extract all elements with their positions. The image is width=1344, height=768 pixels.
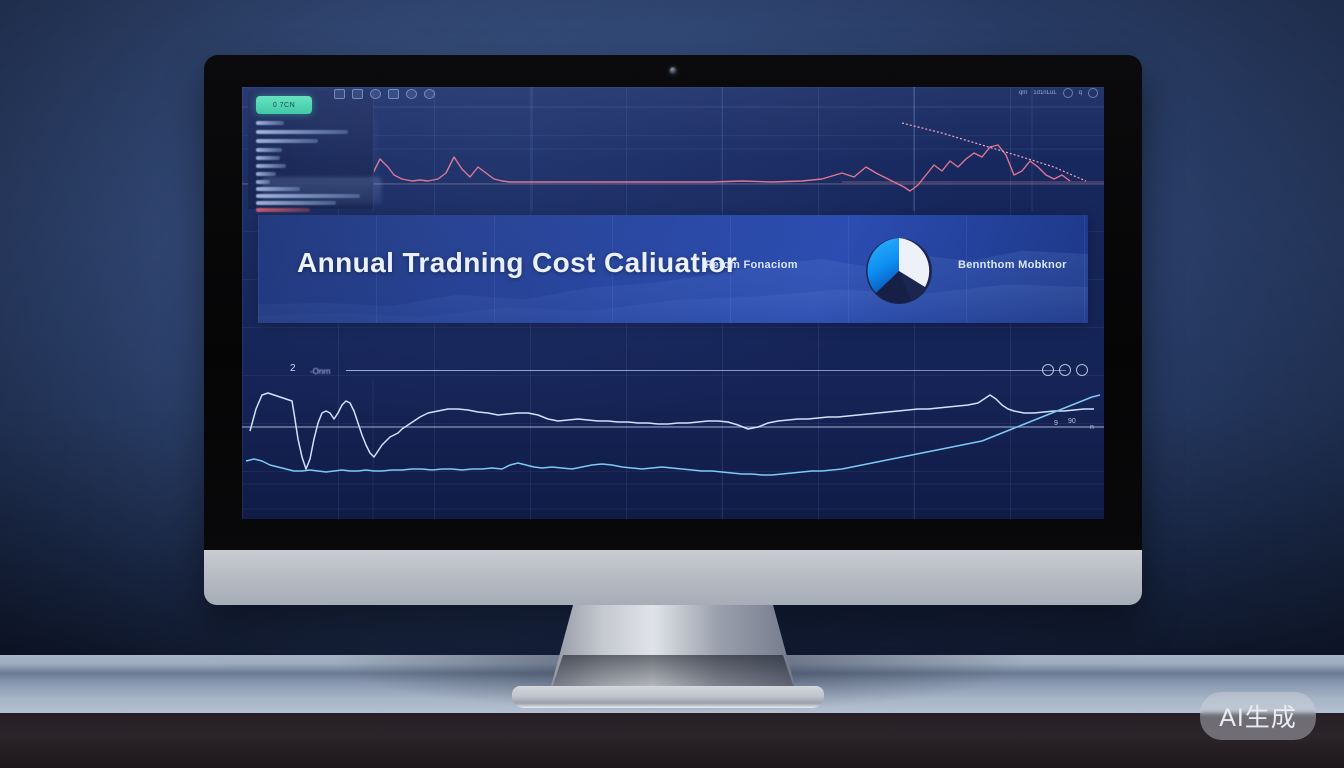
monitor-stand-foot [512,686,824,708]
list-item[interactable]: bhen.m [256,164,286,168]
side-info-card: 0 7CN Bigchih Batenna rr nynhlIM n na Ba… [248,91,374,209]
divider-toolbar: 2 -Onrn [258,363,1088,379]
title-banner: Annual Tradning Cost Caliuatior Petom Fo… [258,215,1088,323]
divider-glyph: -Onrn [310,367,330,376]
layers-icon[interactable] [406,89,417,99]
ai-watermark: AI生成 [1200,692,1316,740]
svg-text:9: 9 [1054,420,1058,427]
divider-actions [1042,364,1088,376]
webcam-icon [670,67,677,74]
cursor-icon[interactable] [334,89,345,99]
circle-d-icon[interactable] [1059,364,1071,376]
status-badge: 0 7CN [256,96,312,114]
circle-o-icon[interactable] [1076,364,1088,376]
top-panel: 0 7CN Bigchih Batenna rr nynhlIM n na Ba… [242,87,1104,211]
donut-chart [859,231,939,311]
list-item[interactable]: AA,BD.mptMnnnnnn [256,201,336,205]
top-right-label: q [1079,90,1082,96]
divider-number: 2 [290,363,296,374]
list-item[interactable]: 7CLAE,RAbbnqcqbymmnnt.sa [256,194,360,198]
toolbar [334,89,435,99]
monitor-chin [204,550,1142,605]
ai-watermark-label: AI生成 [1219,698,1297,734]
circle-indicator-icon[interactable] [1063,88,1073,98]
top-right-label: 1d1nLuL [1033,90,1056,96]
status-badge-label: 0 7CN [273,102,295,109]
banner-subtitle-right: Bennthom Mobknor [958,259,1067,271]
svg-text:n: n [1090,424,1094,431]
circle-indicator-icon[interactable] [1088,88,1098,98]
list-item[interactable]: rbq [256,180,270,184]
list-item[interactable]: Batnbent N.V.-X [256,139,318,143]
list-item[interactable]: bnna [256,172,276,176]
list-item-alert[interactable]: bufnnthbnnn [256,208,310,212]
circle-c-icon[interactable] [1042,364,1054,376]
page-title: Annual Tradning Cost Caliuatior [297,247,737,279]
list-item[interactable]: nt-en-ttbq-j [256,187,300,191]
window-icon[interactable] [352,89,363,99]
lower-chart-svg: 9 90 n [242,379,1104,519]
list-item[interactable]: nnnna [256,148,282,152]
top-right-label: qm [1019,90,1027,96]
list-item[interactable]: Batenna rr nynhlIM n na [256,130,348,134]
divider-line [346,370,1066,371]
screen: 0 7CN Bigchih Batenna rr nynhlIM n na Ba… [242,87,1104,519]
gear-icon[interactable] [424,89,435,99]
list-item[interactable]: Bigchih [256,121,284,125]
lower-chart: 9 90 n [242,379,1104,519]
banner-subtitle-left: Petom Fonaciom [705,259,798,271]
chart-icon[interactable] [370,89,381,99]
scene: 0 7CN Bigchih Batenna rr nynhlIM n na Ba… [0,0,1344,768]
refresh-icon[interactable] [388,89,399,99]
svg-text:90: 90 [1068,418,1076,425]
desk-front-edge [0,713,1344,768]
list-item[interactable]: OOlun [256,156,280,160]
monitor: 0 7CN Bigchih Batenna rr nynhlIM n na Ba… [204,55,1142,605]
top-right-status: qm 1d1nLuL q [1019,88,1098,98]
